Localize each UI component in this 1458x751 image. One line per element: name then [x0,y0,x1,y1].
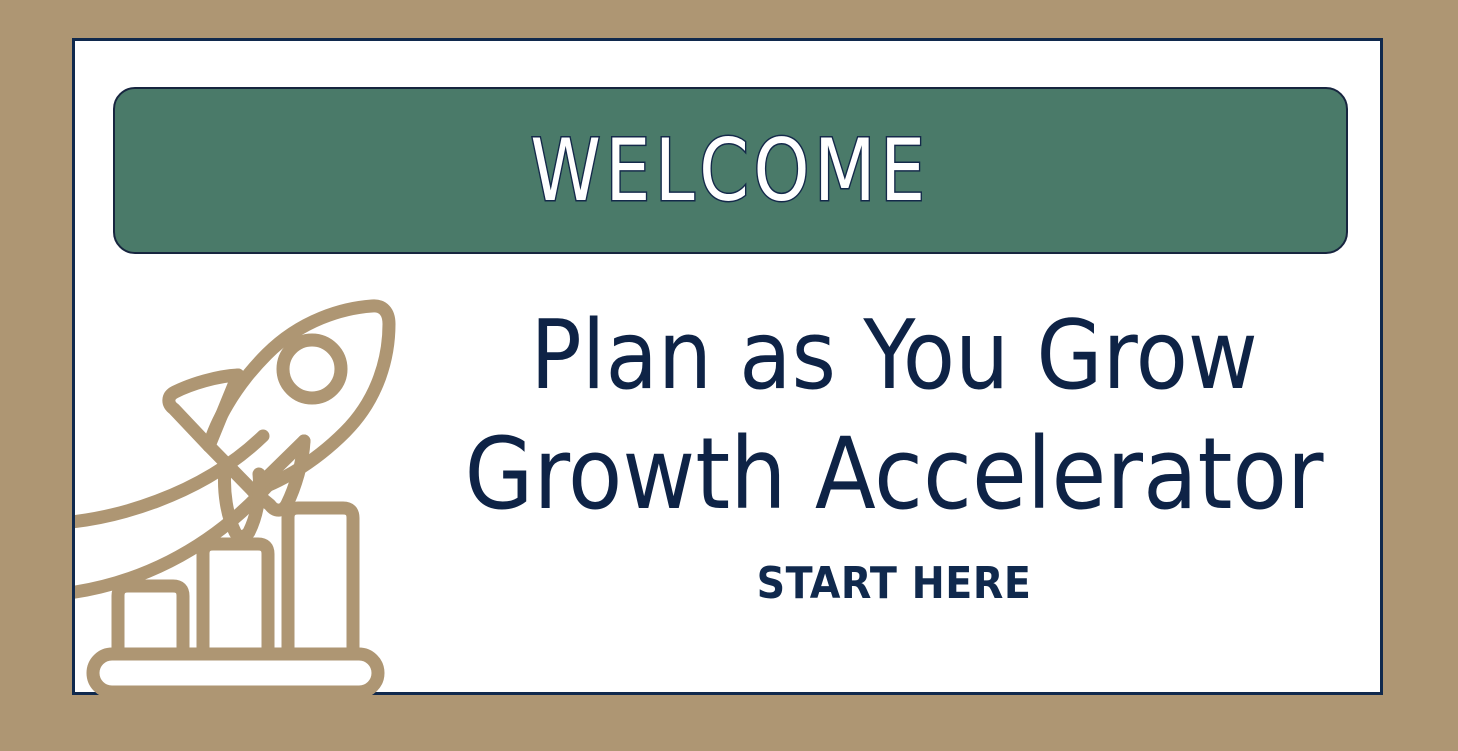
rocket-body [209,306,389,491]
slide-canvas: WELCOME [0,0,1458,751]
start-here-label: START HERE [405,558,1383,609]
rocket-trail-lower-arc [75,482,271,596]
bar-chart-base [93,654,378,692]
bar-chart-small [118,586,183,654]
welcome-banner-label: WELCOME [531,128,930,214]
rocket-left-fin-inner [209,375,238,446]
content-card: WELCOME [72,38,1383,695]
rocket-trail-upper-arc [75,436,263,524]
rocket-window [283,340,341,398]
heading-text-block: Plan as You Grow Growth Accelerator STAR… [405,299,1383,609]
heading-line-2: Growth Accelerator [405,415,1383,536]
rocket-left-fin [169,375,238,446]
rocket-right-fin-inner [253,441,304,491]
rocket-growth-chart-illustration [75,296,415,696]
bar-chart-medium [203,544,268,654]
heading-line-1: Plan as You Grow [405,299,1383,415]
rocket-flame [224,468,259,537]
rocket-right-fin [253,441,304,510]
bar-chart-large [288,508,353,654]
welcome-banner: WELCOME [113,87,1348,254]
